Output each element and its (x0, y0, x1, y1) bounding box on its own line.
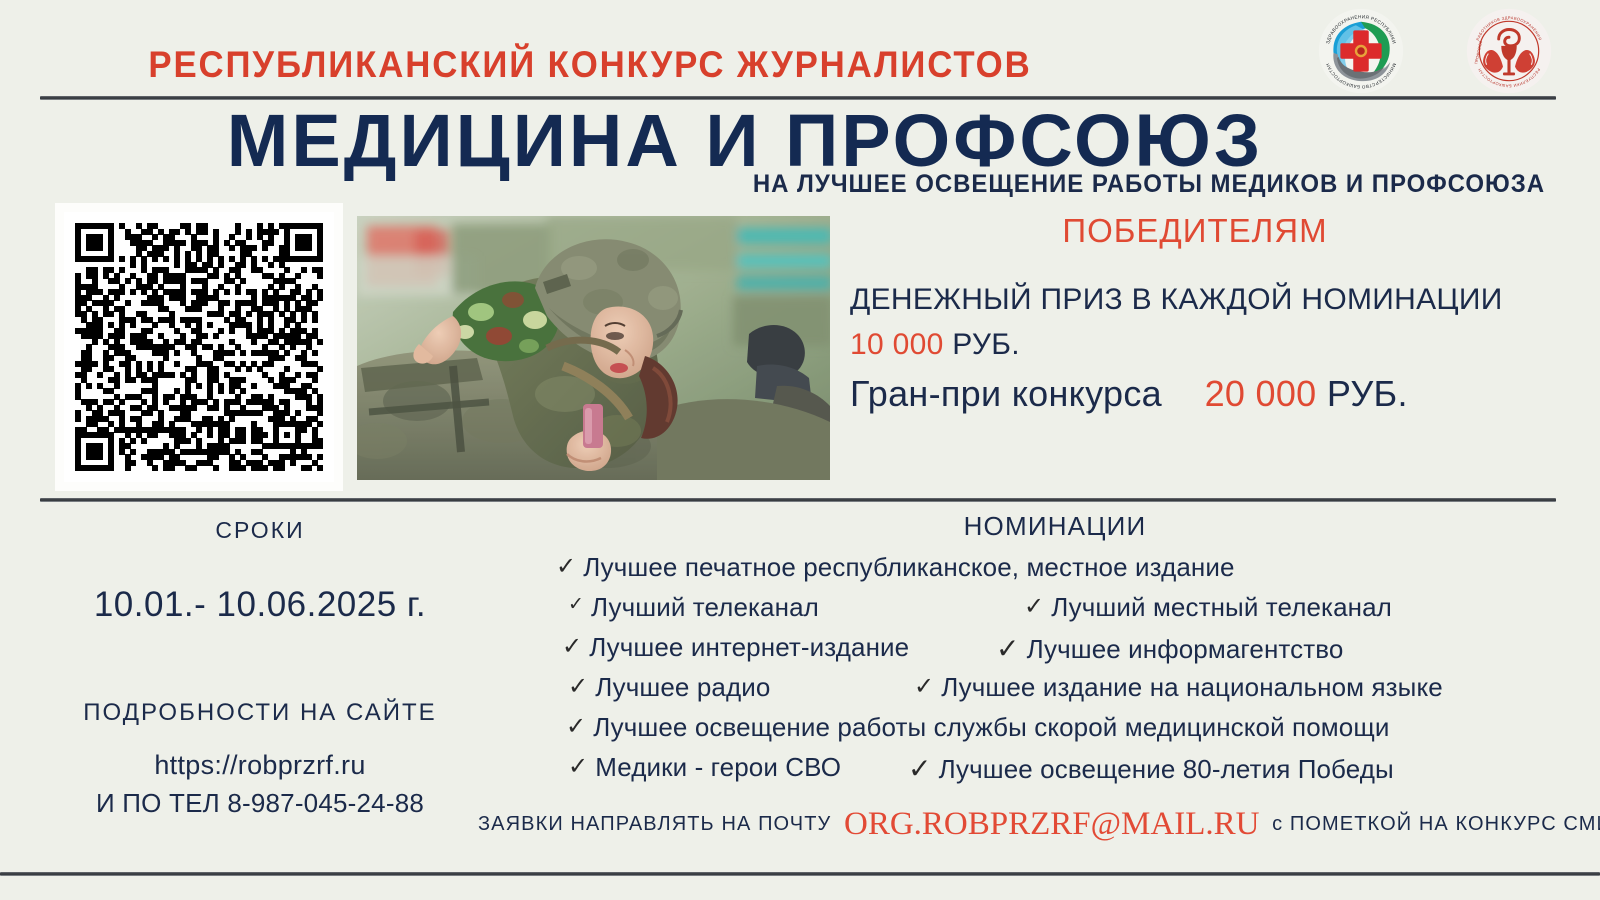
grand-prix-currency: РУБ. (1327, 373, 1408, 414)
divider-bottom (0, 872, 1600, 876)
nomination-item: ✓Лучшее освещение 80-летия Победы (908, 752, 1394, 785)
nomination-currency: РУБ. (952, 328, 1020, 361)
nominations-list: ✓Лучшее печатное республиканское, местно… (556, 552, 1566, 792)
nomination-row: ✓Лучший телеканал✓Лучший местный телекан… (556, 592, 1566, 632)
check-icon: ✓ (1024, 592, 1044, 621)
check-icon: ✓ (568, 672, 588, 701)
nomination-label: Лучшее печатное республиканское, местное… (583, 552, 1234, 582)
nomination-amount: 10 000 (850, 328, 944, 361)
nomination-item: ✓Лучшее интернет-издание (562, 632, 909, 663)
nomination-label: Лучшее освещение 80-летия Победы (939, 754, 1394, 784)
submission-email[interactable]: ORG.ROBPRZRF@MAIL.RU (844, 806, 1259, 842)
nominations-title: НОМИНАЦИИ (560, 511, 1550, 542)
submission-instructions: ЗАЯВКИ НАПРАВЛЯТЬ НА ПОЧТУ ORG.ROBPRZRF@… (478, 806, 1568, 843)
qr-code-image[interactable] (64, 212, 334, 482)
submission-prefix: ЗАЯВКИ НАПРАВЛЯТЬ НА ПОЧТУ (478, 813, 831, 835)
nomination-label: Лучший телеканал (591, 592, 819, 622)
check-icon: ✓ (562, 632, 582, 661)
check-icon: ✓ (556, 552, 576, 581)
phone-number[interactable]: И ПО ТЕЛ 8-987-045-24-88 (40, 788, 480, 819)
prize-nomination-amount-line: 10 000 РУБ. (850, 328, 1020, 362)
nomination-label: Медики - герои СВО (595, 752, 841, 782)
nomination-item: ✓Лучшее печатное республиканское, местно… (556, 552, 1235, 583)
qr-code-panel[interactable] (55, 203, 343, 491)
grand-prix-label: Гран-при конкурса (850, 373, 1162, 414)
terms-label: СРОКИ (40, 517, 480, 544)
nomination-item: ✓Лучший местный телеканал (1024, 592, 1392, 623)
nomination-row: ✓Медики - герои СВО✓Лучшее освещение 80-… (556, 752, 1566, 792)
winners-heading: ПОБЕДИТЕЛЯМ (850, 212, 1540, 250)
nomination-row: ✓Лучшее освещение работы службы скорой м… (556, 712, 1566, 752)
divider-middle (40, 498, 1556, 502)
nomination-label: Лучшее информагентство (1027, 634, 1344, 664)
nomination-row: ✓Лучшее радио✓Лучшее издание на национал… (556, 672, 1566, 712)
check-icon: ✓ (914, 672, 934, 701)
nomination-item: ✓Медики - герои СВО (568, 752, 841, 783)
grand-prix-line: Гран-при конкурса 20 000 РУБ. (850, 373, 1408, 415)
nomination-label: Лучшее радио (595, 672, 770, 702)
nomination-item: ✓Лучшее издание на национальном языке (914, 672, 1443, 703)
poster-kicker: РЕСПУБЛИКАНСКИЙ КОНКУРС ЖУРНАЛИСТОВ (35, 44, 1144, 86)
poster-root: РЕСПУБЛИКАНСКИЙ КОНКУРС ЖУРНАЛИСТОВ МЕДИ… (0, 0, 1600, 900)
poster-subtitle: НА ЛУЧШЕЕ ОСВЕЩЕНИЕ РАБОТЫ МЕДИКОВ И ПРО… (734, 170, 1545, 199)
nomination-label: Лучшее освещение работы службы скорой ме… (593, 712, 1389, 742)
nomination-item: ✓Лучшее радио (568, 672, 770, 703)
logo-group: ЗДРАВООХРАНЕНИЯ РЕСПУБЛИКИ МИНИСТЕРСТВО … (1318, 8, 1552, 94)
nomination-item: ✓Лучший телеканал (568, 592, 819, 623)
nomination-row: ✓Лучшее печатное республиканское, местно… (556, 552, 1566, 592)
nomination-item: ✓Лучшее освещение работы службы скорой м… (566, 712, 1389, 743)
nomination-label: Лучший местный телеканал (1051, 592, 1392, 622)
healthcare-workers-union-logo: РАБОТНИКОВ ЗДРАВООХРАНЕНИЯ РЕСПУБЛИКИ БА… (1466, 8, 1552, 94)
check-icon: ✓ (568, 752, 588, 781)
terms-dates: 10.01.- 10.06.2025 г. (40, 585, 480, 625)
details-label: ПОДРОБНОСТИ НА САЙТЕ (40, 699, 480, 727)
nomination-row: ✓Лучшее интернет-издание✓Лучшее информаг… (556, 632, 1566, 672)
check-icon: ✓ (996, 632, 1020, 665)
nomination-item: ✓Лучшее информагентство (996, 632, 1343, 665)
nomination-label: Лучшее интернет-издание (589, 632, 909, 662)
grand-prix-amount: 20 000 (1205, 373, 1317, 414)
submission-suffix: с ПОМЕТКОЙ НА КОНКУРС СМИ (1272, 813, 1600, 835)
medic-photo (357, 216, 830, 480)
check-icon: ✓ (908, 752, 932, 785)
prize-description: ДЕНЕЖНЫЙ ПРИЗ В КАЖДОЙ НОМИНАЦИИ (850, 283, 1503, 317)
check-icon: ✓ (568, 593, 584, 616)
website-link[interactable]: https://robprzrf.ru (40, 750, 480, 781)
check-icon: ✓ (566, 712, 586, 741)
ministry-of-health-bashkortostan-logo: ЗДРАВООХРАНЕНИЯ РЕСПУБЛИКИ МИНИСТЕРСТВО … (1318, 8, 1404, 94)
nomination-label: Лучшее издание на национальном языке (941, 672, 1443, 702)
